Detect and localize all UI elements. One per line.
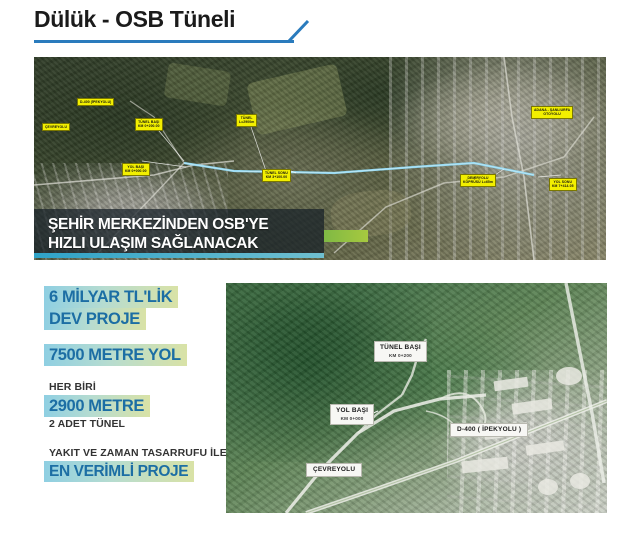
map-label-yol-basi: YOL BAŞI KM 0+000.00 [122, 163, 150, 176]
map-label-demiryolu-koprusu: DEMİRYOLU KÖPRÜSÜ L=65m [460, 174, 496, 187]
title-underline [34, 40, 294, 43]
stat-highlight-line: 2900 METRE [44, 395, 150, 417]
banner-accent-green [324, 230, 368, 242]
title-underline-tick-icon [288, 20, 312, 42]
stat-plain-line: HER BİRİ [44, 380, 244, 395]
map-label-km: OTOYOLU [534, 112, 570, 116]
stat-block-dev-proje: 6 MİLYAR TL'LİK DEV PROJE [44, 286, 244, 330]
map-label-text: TÜNEL BAŞI [380, 344, 421, 351]
map-label-text: ÇEVREYOLU [45, 125, 67, 129]
stat-highlight-line: 7500 METRE YOL [44, 344, 187, 366]
map-label-text: D-400 ( İPEKYOLU ) [457, 426, 521, 433]
map-label-yol-sonu: YOL SONU KM 7+414.05 [549, 178, 577, 191]
map-label-cevreyolu: ÇEVREYOLU [42, 123, 70, 131]
banner-line-1: ŞEHİR MERKEZİNDEN OSB'YE [48, 215, 324, 234]
banner-line-2: HIZLI ULAŞIM SAĞLANACAK [48, 234, 324, 253]
map-label-km: KM 0+000.00 [125, 169, 147, 173]
map-label-km: L=2900m [239, 120, 254, 124]
map-label-adana-sanliurfa-otoyolu: ADANA - ŞANLIURFA OTOYOLU [531, 106, 573, 119]
map-label-km: KÖPRÜSÜ L=65m [463, 180, 493, 184]
road-overlay [226, 283, 607, 513]
map-label-tunel-uzunluk: TÜNEL L=2900m [236, 114, 257, 127]
stat-highlight-line: 6 MİLYAR TL'LİK [44, 286, 178, 308]
map-label-tunel-basi: TÜNEL BAŞI KM 0+200.00 [135, 118, 163, 131]
banner-accent-blue [34, 253, 324, 258]
stat-plain-line: 2 ADET TÜNEL [44, 417, 244, 432]
map-label-km: KM 3+100.00 [265, 175, 288, 179]
stats-column: 6 MİLYAR TL'LİK DEV PROJE 7500 METRE YOL… [44, 286, 244, 496]
map-label-km: KM 7+414.05 [552, 184, 574, 188]
satellite-detail-map: TÜNEL BAŞI KM 0+200 YOL BAŞI KM 0+000 D-… [226, 283, 607, 513]
map-label-km: KM 0+200 [380, 353, 421, 359]
map-label-text: ÇEVREYOLU [313, 466, 355, 473]
stat-block-yol-uzunlugu: 7500 METRE YOL [44, 344, 244, 366]
stat-plain-line: YAKIT VE ZAMAN TASARRUFU İLE [44, 446, 244, 461]
stat-highlight-line: EN VERİMLİ PROJE [44, 461, 194, 482]
map-label-d400-ipekyolu: D-400 ( İPEKYOLU ) [450, 423, 528, 437]
map-label-text: YOL BAŞI [336, 407, 368, 414]
map-label-cevreyolu: ÇEVREYOLU [306, 463, 362, 477]
stat-block-verimlilik: YAKIT VE ZAMAN TASARRUFU İLE EN VERİMLİ … [44, 446, 244, 482]
page-header: Dülük - OSB Tüneli [34, 4, 334, 48]
headline-banner: ŞEHİR MERKEZİNDEN OSB'YE HIZLI ULAŞIM SA… [34, 209, 324, 258]
map-label-tunel-basi: TÜNEL BAŞI KM 0+200 [374, 341, 427, 362]
map-label-yol-basi: YOL BAŞI KM 0+000 [330, 404, 374, 425]
stat-highlight-line: DEV PROJE [44, 308, 146, 330]
map-label-d400-ipekyolu: D-400 (İPEKYOLU) [77, 98, 114, 106]
map-label-text: D-400 (İPEKYOLU) [80, 100, 111, 104]
map-label-km: KM 0+000 [336, 416, 368, 422]
stat-block-tunel-adedi: HER BİRİ 2900 METRE 2 ADET TÜNEL [44, 380, 244, 432]
map-label-km: KM 0+200.00 [138, 124, 160, 128]
map-label-tunel-sonu: TÜNEL SONU KM 3+100.00 [262, 169, 291, 182]
